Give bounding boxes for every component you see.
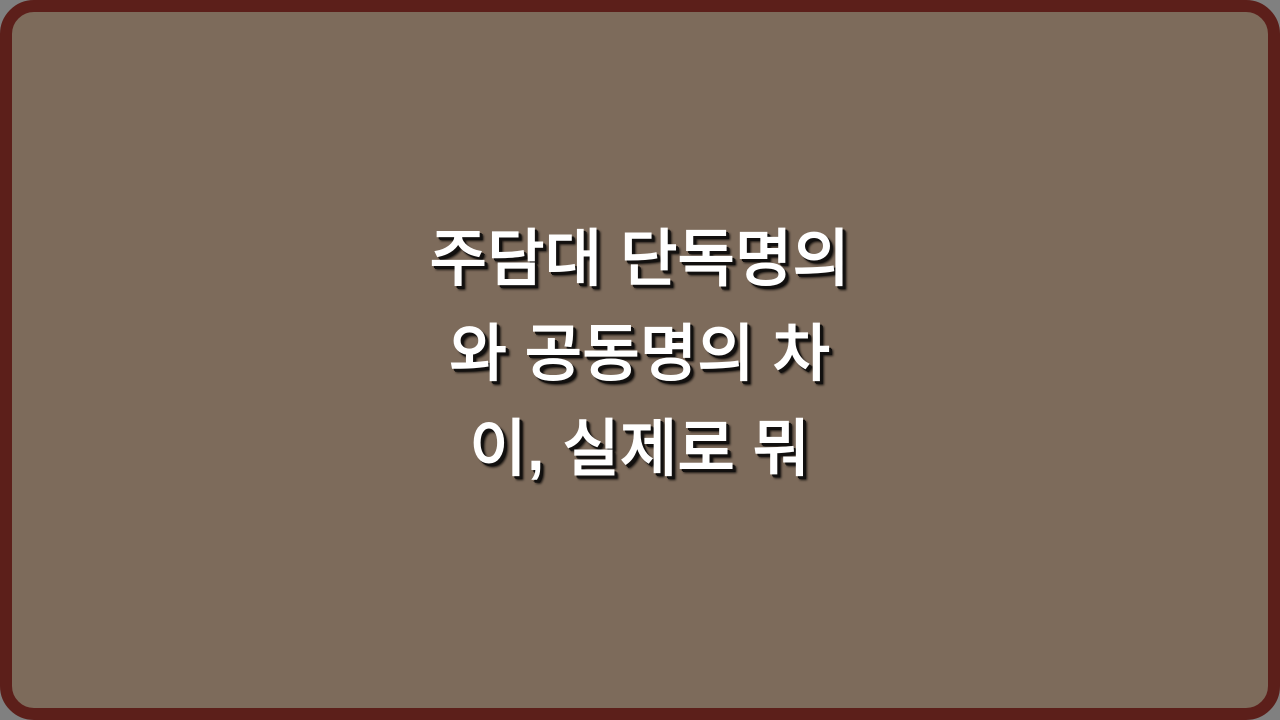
- thumbnail-card: 주담대 단독명의 와 공동명의 차 이, 실제로 뭐: [0, 0, 1280, 720]
- headline-line-2: 와 공동명의 차: [12, 307, 1268, 402]
- headline-line-3: 이, 실제로 뭐: [12, 402, 1268, 497]
- headline-block: 주담대 단독명의 와 공동명의 차 이, 실제로 뭐: [12, 212, 1268, 509]
- headline-line-1: 주담대 단독명의: [12, 212, 1268, 307]
